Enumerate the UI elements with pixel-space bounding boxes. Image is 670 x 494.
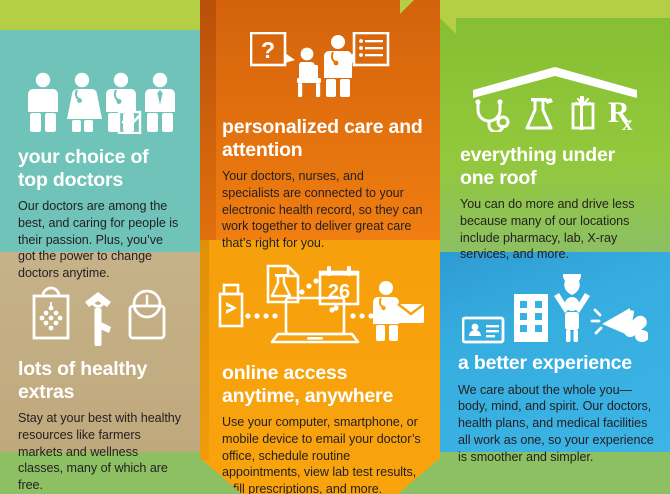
personalized-care-icon: ?: [250, 32, 390, 106]
pill-bottle-icon: [220, 285, 242, 326]
panel6-body: We care about the whole you—body, mind, …: [458, 382, 656, 466]
hospital-building-icon: [514, 294, 548, 342]
panel5-body: Use your computer, smartphone, or mobile…: [222, 414, 424, 494]
panel3-icon-group: R x: [440, 18, 670, 132]
panel6-heading: a better experience: [458, 352, 656, 375]
roof-icon: [473, 67, 637, 98]
panel2-body: Your doctors, nurses, and specialists ar…: [222, 168, 424, 252]
panel4-body: Stay at your best with healthy resources…: [18, 410, 182, 494]
doctor-email-icon: [373, 281, 424, 341]
panel4-heading: lots of healthy extras: [18, 358, 182, 403]
panel4-text: lots of healthy extras Stay at your best…: [0, 348, 200, 494]
panel2-heading: personalized care and attention: [222, 116, 424, 161]
x-ray-icon: [573, 96, 593, 130]
healthy-extras-icon: [30, 284, 170, 348]
question-speech-bubble-icon: ?: [251, 33, 295, 65]
grocery-bag-grapes-icon: [34, 288, 68, 338]
panel5-heading: online access anytime, anywhere: [222, 362, 424, 407]
panel-everything-under-one-roof[interactable]: R x everything under one roof You can do…: [440, 18, 670, 252]
panel3-text: everything under one roof You can do mor…: [440, 132, 670, 263]
bathroom-scale-icon: [130, 291, 164, 338]
checklist-speech-bubble-icon: [344, 33, 388, 65]
person-apple-icon: [554, 274, 590, 342]
id-card-icon: [463, 318, 503, 342]
panel1-heading: your choice of top doctors: [18, 146, 182, 191]
calendar-day-label: 26: [328, 281, 350, 303]
seated-patient-icon: [297, 48, 321, 97]
panel-lots-of-healthy-extras[interactable]: lots of healthy extras Stay at your best…: [0, 252, 200, 452]
panel2-icon-group: ?: [200, 0, 440, 106]
better-experience-icon: [462, 274, 648, 346]
panel-a-better-experience[interactable]: a better experience We care about the wh…: [440, 252, 670, 452]
panel5-icon-group: 26: [200, 240, 440, 352]
panel-online-access-anytime-anywhere[interactable]: 26: [200, 240, 440, 494]
infographic-canvas: your choice of top doctors Our doctors a…: [0, 0, 670, 494]
panel6-icon-group: [440, 252, 670, 346]
person-nurse-icon: [67, 73, 102, 132]
lab-result-document-icon: [268, 266, 298, 302]
standing-doctor-icon: [324, 35, 352, 97]
doctors-group-icon: [24, 72, 176, 134]
svg-text:x: x: [622, 111, 633, 132]
panel-personalized-care-and-attention[interactable]: ?: [200, 0, 440, 240]
panel-your-choice-of-top-doctors[interactable]: your choice of top doctors Our doctors a…: [0, 30, 200, 252]
svg-text:?: ?: [261, 37, 275, 63]
panel4-icon-group: [0, 252, 200, 348]
person-necktie-icon: [145, 73, 175, 132]
panel5-text: online access anytime, anywhere Use your…: [200, 352, 440, 494]
laptop-icon: [272, 298, 358, 342]
person-overalls-icon: [28, 73, 58, 132]
lab-flask-icon: [527, 98, 553, 128]
panel3-heading: everything under one roof: [460, 144, 654, 189]
panel6-text: a better experience We care about the wh…: [440, 346, 670, 465]
panel1-icon-group: [0, 30, 200, 134]
rx-prescription-icon: R x: [608, 96, 633, 132]
stethoscope-icon: [475, 99, 508, 132]
yoga-pose-icon: [85, 292, 111, 346]
under-one-roof-icon: R x: [470, 66, 640, 132]
online-access-icon: 26: [212, 264, 428, 352]
panel2-text: personalized care and attention Your doc…: [200, 106, 440, 252]
